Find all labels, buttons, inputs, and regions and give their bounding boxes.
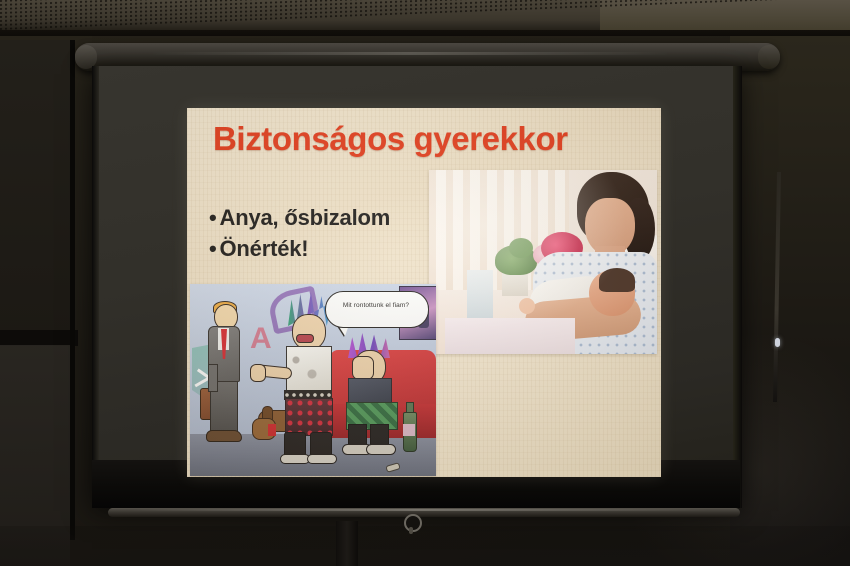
cartoon-graffiti-tag: A [250,322,284,352]
cartoon-punk-father-polka-pants [285,398,333,436]
bullet-marker-icon: • [209,202,217,233]
bullet-text: Anya, ősbizalom [220,205,391,230]
list-item: •Önérték! [209,233,449,264]
bullet-marker-icon: • [209,233,217,264]
lecture-room-scene: Biztonságos gyerekkor •Anya, ősbizalom •… [0,0,850,566]
projector-screen-pull-tip [409,527,413,534]
wall-panel-left-upper [0,40,72,340]
cartoon-punk-father-boot-sole [280,454,310,464]
slide-bullet-list: •Anya, ősbizalom •Önérték! [209,202,449,264]
cartoon-son-arm [208,364,218,392]
mother-holding-newborn-photo [429,170,657,354]
photo-baby-hand [519,298,535,314]
cartoon-punk-mother-hand-on-face [352,356,374,380]
projector-screen-pull-ring[interactable] [404,514,422,532]
photo-vase [467,270,493,320]
cartoon-punk-father-shirt-stains [290,352,324,388]
cartoon-punk-father-mouth [296,334,314,343]
wall-panel-edge [70,40,75,540]
projector-screen-stand-post [336,521,358,566]
cartoon-punk-mother-boot-sole [366,444,396,455]
photo-baby-hair [599,268,635,292]
punk-parents-cartoon: A Ⓐ [190,284,436,476]
roller-highlight [150,52,670,55]
speech-bubble [325,291,429,328]
list-item: •Anya, ősbizalom [209,202,449,233]
screen-edge-right [733,66,742,508]
weight-bar-highlight [130,509,710,511]
screen-edge-left [92,66,99,508]
wall-panel-divider [0,330,78,346]
pointer-stick-glint [775,338,780,347]
presentation-slide: Biztonságos gyerekkor •Anya, ősbizalom •… [187,108,661,477]
slide-title: Biztonságos gyerekkor [213,120,643,158]
bullet-text: Önérték! [220,236,309,261]
cartoon-son-shoes [206,430,242,442]
roller-end-cap-right [758,45,780,69]
photo-blanket [445,318,575,354]
speech-bubble-text: Mit rontottunk el fiam? [328,302,424,309]
cartoon-punk-father-boot-sole [307,454,337,464]
floor-shadow [0,526,850,566]
photo-plant-leaves-top [509,238,533,258]
cartoon-bottle-label [403,424,415,436]
cartoon-punk-father-head [292,314,326,350]
cartoon-punk-father-hand [250,364,266,382]
cartoon-dog-collar [268,424,276,436]
